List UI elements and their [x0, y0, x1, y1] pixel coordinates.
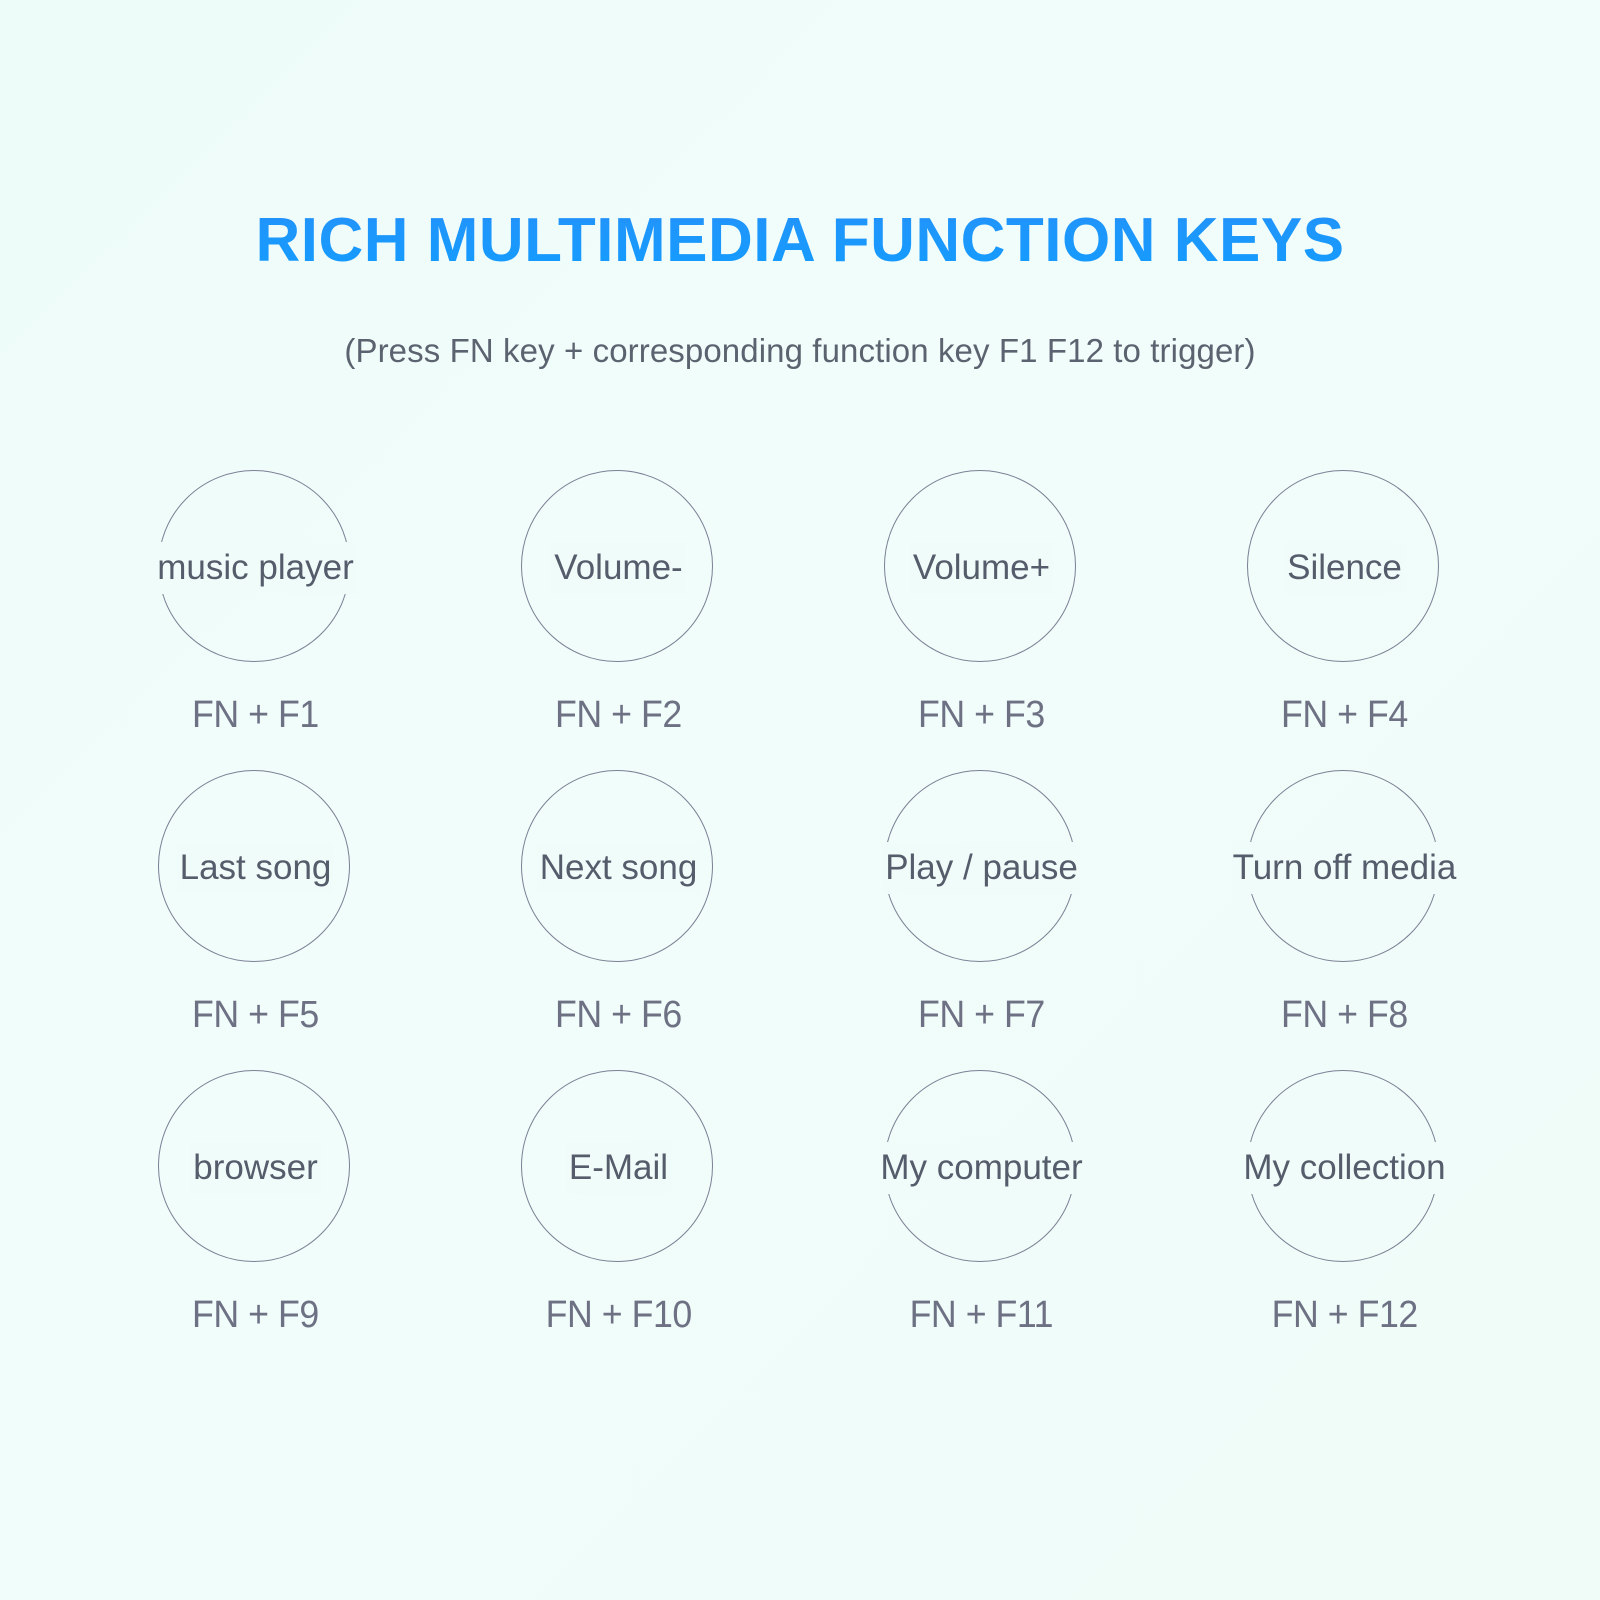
function-key-item[interactable]: Play / pause FN + F7: [800, 770, 1163, 1070]
function-key-label: Next song: [537, 842, 701, 894]
function-key-label: My collection: [1241, 1142, 1447, 1194]
function-key-label: Last song: [177, 842, 335, 894]
function-key-circle-wrap: Play / pause: [884, 770, 1080, 966]
function-key-combo: FN + F4: [1281, 694, 1408, 737]
function-key-label: browser: [190, 1142, 320, 1194]
function-key-combo: FN + F8: [1281, 994, 1408, 1037]
function-key-label: My computer: [878, 1142, 1084, 1194]
function-key-item[interactable]: My collection FN + F12: [1163, 1070, 1526, 1370]
function-key-combo: FN + F5: [192, 994, 319, 1037]
function-key-label: Volume-: [551, 542, 685, 594]
function-key-circle-wrap: Turn off media: [1247, 770, 1443, 966]
function-key-combo: FN + F12: [1271, 1294, 1417, 1337]
function-key-item[interactable]: Silence FN + F4: [1163, 470, 1526, 770]
function-key-label: Play / pause: [882, 842, 1081, 894]
function-key-label: Volume+: [910, 542, 1053, 594]
function-key-item[interactable]: Volume- FN + F2: [437, 470, 800, 770]
function-key-combo: FN + F6: [555, 994, 682, 1037]
function-key-combo: FN + F2: [555, 694, 682, 737]
function-key-item[interactable]: Volume+ FN + F3: [800, 470, 1163, 770]
function-key-item[interactable]: music player FN + F1: [74, 470, 437, 770]
function-key-label: E-Mail: [566, 1142, 671, 1194]
function-key-combo: FN + F11: [910, 1294, 1053, 1337]
function-key-circle-wrap: browser: [158, 1070, 354, 1266]
function-key-item[interactable]: Last song FN + F5: [74, 770, 437, 1070]
function-key-item[interactable]: Turn off media FN + F8: [1163, 770, 1526, 1070]
function-key-circle-wrap: My computer: [884, 1070, 1080, 1266]
function-key-combo: FN + F10: [545, 1294, 691, 1337]
multimedia-function-keys-page: RICH MULTIMEDIA FUNCTION KEYS (Press FN …: [0, 0, 1600, 1600]
function-key-combo: FN + F1: [192, 694, 319, 737]
page-subtitle: (Press FN key + corresponding function k…: [0, 273, 1600, 370]
function-key-circle-wrap: Volume+: [884, 470, 1080, 666]
function-key-item[interactable]: E-Mail FN + F10: [437, 1070, 800, 1370]
function-key-combo: FN + F7: [918, 994, 1045, 1037]
function-key-item[interactable]: Next song FN + F6: [437, 770, 800, 1070]
function-key-label: Turn off media: [1231, 842, 1459, 894]
function-key-circle-wrap: music player: [158, 470, 354, 666]
function-key-combo: FN + F3: [918, 694, 1045, 737]
function-key-circle-wrap: My collection: [1247, 1070, 1443, 1266]
function-key-circle-wrap: Volume-: [521, 470, 717, 666]
page-title: RICH MULTIMEDIA FUNCTION KEYS: [0, 0, 1600, 273]
function-key-circle-wrap: Silence: [1247, 470, 1443, 666]
function-key-circle-wrap: Last song: [158, 770, 354, 966]
function-key-item[interactable]: My computer FN + F11: [800, 1070, 1163, 1370]
function-key-circle-wrap: Next song: [521, 770, 717, 966]
function-key-item[interactable]: browser FN + F9: [74, 1070, 437, 1370]
function-key-circle-wrap: E-Mail: [521, 1070, 717, 1266]
function-key-combo: FN + F9: [192, 1294, 319, 1337]
page-header: RICH MULTIMEDIA FUNCTION KEYS (Press FN …: [0, 0, 1600, 370]
function-key-label: Silence: [1284, 542, 1405, 594]
function-key-grid: music player FN + F1 Volume- FN + F2 Vol…: [74, 470, 1526, 1370]
function-key-label: music player: [154, 542, 356, 594]
